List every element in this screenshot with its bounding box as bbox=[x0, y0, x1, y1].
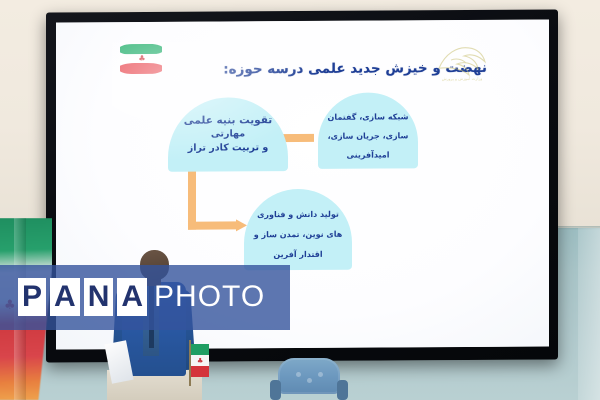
watermark-tail: PHOTO bbox=[154, 278, 265, 316]
watermark-letter: A bbox=[50, 278, 80, 316]
flag-band-red bbox=[191, 366, 209, 377]
chair-tuft bbox=[318, 372, 323, 377]
node-knowledge-technology: تولید دانش و فناوری های نوین، تمدن ساز و… bbox=[244, 189, 352, 271]
node-line: تولید دانش و فناوری bbox=[257, 205, 339, 225]
node-line: تقویت بنیه علمی bbox=[184, 113, 272, 128]
node-line: و تربیت کادر تراز bbox=[188, 141, 268, 155]
node-line: امیدآفرینی bbox=[347, 145, 390, 164]
photo-scene: ♣ نهضت و خیزش جدید علمی درسه حوزه: وزارت… bbox=[0, 0, 600, 400]
watermark-text: P A N A PHOTO bbox=[18, 277, 265, 317]
watermark-letter: P bbox=[18, 278, 46, 316]
flag-emblem-icon: ♣ bbox=[138, 55, 146, 63]
flag-band-green bbox=[191, 344, 209, 355]
node-line: شبکه سازی، گفتمان bbox=[328, 107, 409, 126]
node-networking-discourse: شبکه سازی، گفتمان سازی، جریان سازی، امید… bbox=[318, 92, 418, 169]
node-line: مهارتی bbox=[211, 127, 245, 141]
desk-iran-flag: ♣ bbox=[189, 340, 209, 386]
office-chair bbox=[270, 358, 348, 400]
watermark-letter: A bbox=[117, 278, 147, 316]
chair-tuft bbox=[307, 378, 312, 383]
chair-armrest-left bbox=[270, 380, 281, 400]
organization-logo: وزارت آموزش و پرورش bbox=[431, 42, 491, 94]
arrow-segment-horizontal bbox=[188, 221, 238, 229]
flag-emblem-icon: ♣ bbox=[197, 357, 203, 365]
iran-flag: ♣ bbox=[120, 44, 162, 74]
node-line: های نوین، تمدن ساز و bbox=[254, 225, 343, 246]
flag-band-red bbox=[120, 63, 162, 74]
chair-tuft bbox=[296, 372, 301, 377]
watermark-letter: N bbox=[84, 278, 114, 316]
watermark-bar: P A N A PHOTO bbox=[0, 265, 290, 330]
chair-backrest bbox=[278, 358, 340, 394]
node-line: سازی، جریان سازی، bbox=[328, 126, 409, 145]
wall-edge-right bbox=[578, 228, 600, 400]
organization-logo-caption: وزارت آموزش و پرورش bbox=[433, 76, 491, 82]
node-line: اقتدار آفرین bbox=[273, 245, 322, 265]
node-strengthen-scientific-base: تقویت بنیه علمی مهارتی و تربیت کادر تراز bbox=[168, 97, 288, 172]
chair-armrest-right bbox=[337, 380, 348, 400]
